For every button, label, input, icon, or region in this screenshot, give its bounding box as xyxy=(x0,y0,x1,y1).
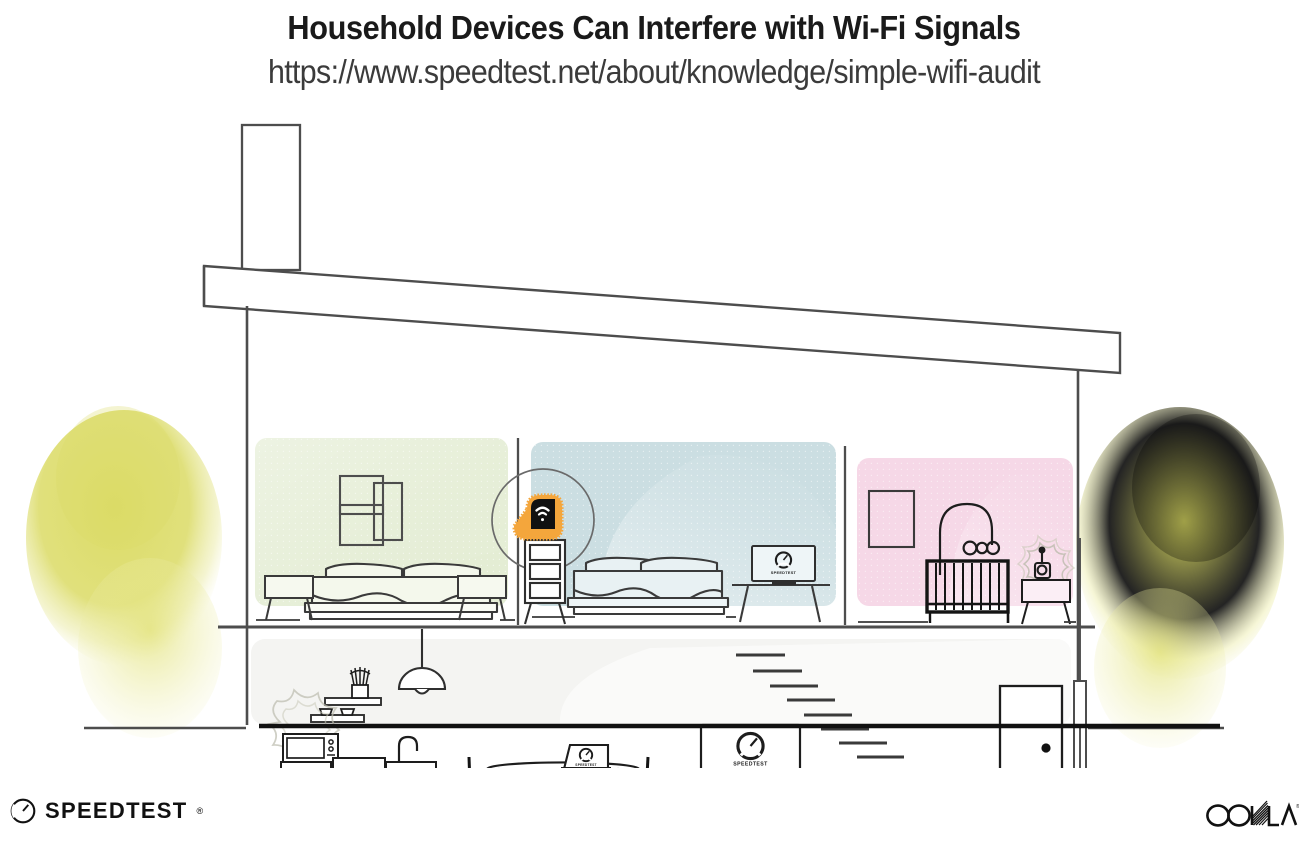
shelf xyxy=(325,698,381,705)
ookla-registered-mark: ® xyxy=(1296,803,1299,810)
ookla-logo: ® xyxy=(1205,795,1299,834)
door-knob[interactable] xyxy=(1041,743,1050,752)
room-nursery-pink xyxy=(857,458,1076,624)
wifi-router[interactable] xyxy=(514,495,562,539)
speedtest-logo: SPEEDTEST ® xyxy=(10,798,203,824)
source-url: https://www.speedtest.net/about/knowledg… xyxy=(52,47,1255,91)
monitor-brand-text: SPEEDTEST xyxy=(771,570,797,575)
bed xyxy=(568,558,728,614)
tv-brand-text: SPEEDTEST xyxy=(733,762,768,768)
chimney xyxy=(242,125,300,270)
faucet xyxy=(399,737,417,762)
room-ground-floor xyxy=(251,639,1071,725)
foliage-left xyxy=(26,406,222,738)
speedtest-gauge-icon xyxy=(10,798,36,824)
shelf-unit xyxy=(525,540,565,624)
nightstand xyxy=(265,576,313,620)
microwave-oven[interactable] xyxy=(283,734,338,762)
speedtest-registered-mark: ® xyxy=(197,806,204,816)
television[interactable]: SPEEDTEST xyxy=(701,725,800,768)
ookla-wordmark-svg: ® xyxy=(1205,795,1299,829)
roof-slab xyxy=(204,266,1120,373)
laptop-brand-text: SPEEDTEST xyxy=(575,763,596,767)
foliage-right xyxy=(1076,407,1284,748)
shelf xyxy=(311,715,364,722)
desktop-monitor[interactable]: SPEEDTEST xyxy=(752,546,815,585)
laptop[interactable]: SPEEDTEST xyxy=(561,745,611,768)
infographic-page: Household Devices Can Interfere with Wi-… xyxy=(0,0,1308,861)
house-illustration: SPEEDTEST xyxy=(0,108,1308,768)
utensil-pot xyxy=(350,667,370,698)
page-title: Household Devices Can Interfere with Wi-… xyxy=(46,0,1262,47)
room-bedroom-green xyxy=(255,438,515,620)
speedtest-wordmark: SPEEDTEST xyxy=(45,798,188,824)
house-cutaway-svg: SPEEDTEST xyxy=(0,108,1308,768)
room-bedroom-blue: SPEEDTEST xyxy=(531,442,836,622)
header: Household Devices Can Interfere with Wi-… xyxy=(0,0,1308,110)
nightstand xyxy=(1022,580,1070,624)
